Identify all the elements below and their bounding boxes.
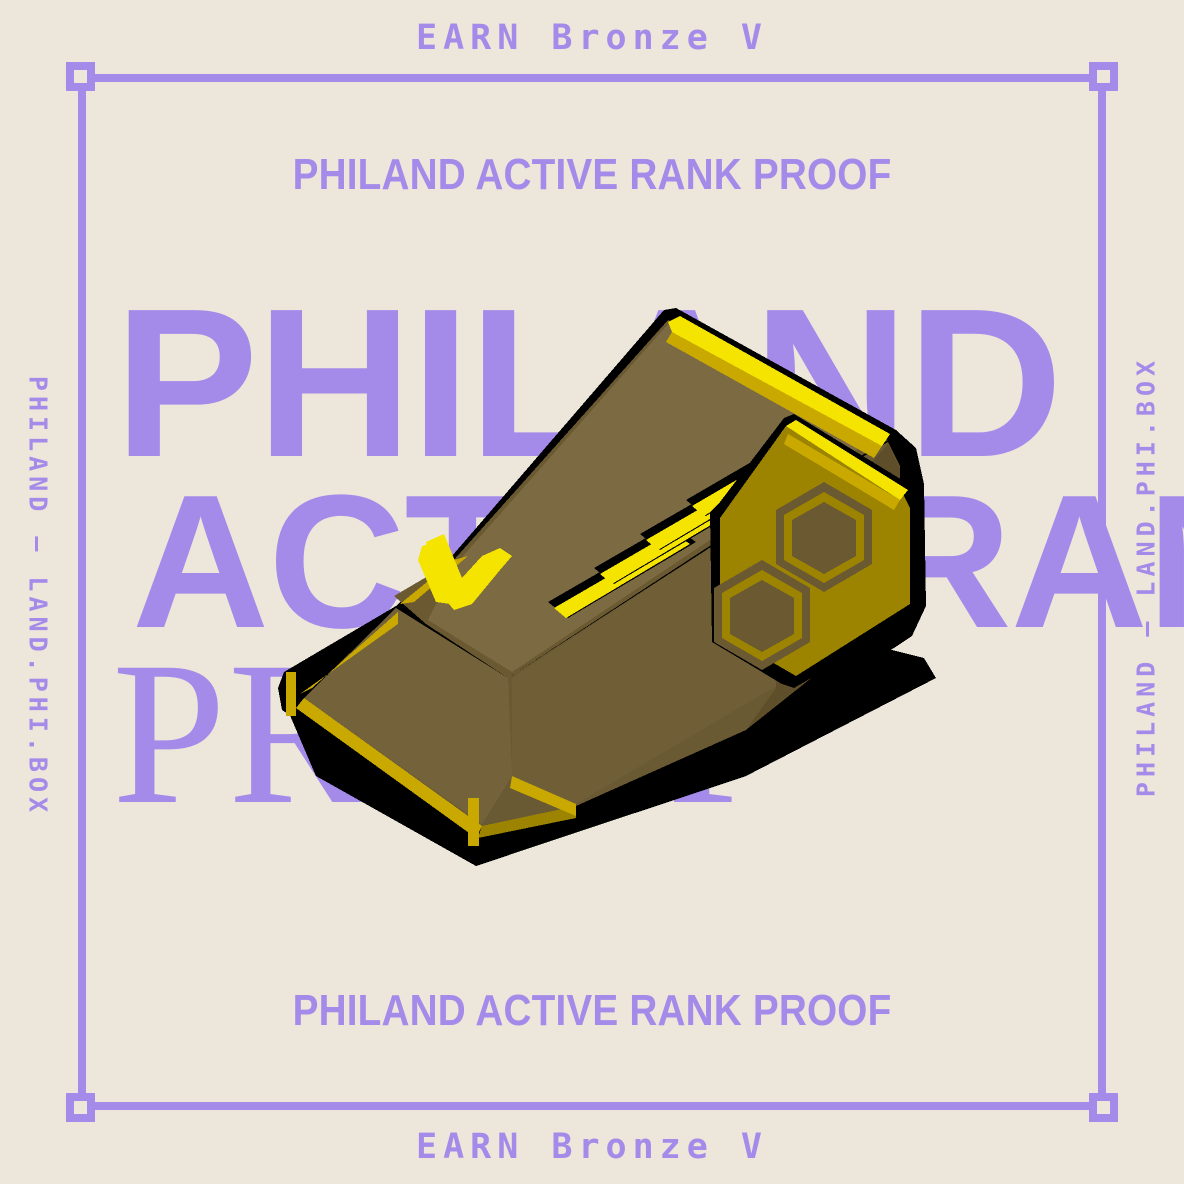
top-strap-label: EARN Bronze V: [0, 18, 1184, 58]
headline-bottom: PHILAND ACTIVE RANK PROOF: [71, 986, 1113, 1036]
left-side-label: PHILAND — LAND.PHI.BOX: [24, 347, 53, 847]
bottom-strap-label: EARN Bronze V: [0, 1127, 1184, 1167]
corner-marker-bottom-right: [1089, 1093, 1118, 1122]
badge-front-post: [468, 798, 479, 846]
corner-marker-top-left: [66, 62, 95, 91]
right-side-label: PHILAND — LAND.PHI.BOX: [1132, 327, 1161, 827]
frame-line-bottom: [86, 1102, 1098, 1110]
badge-svg: [276, 306, 936, 876]
corner-marker-top-right: [1089, 62, 1118, 91]
corner-marker-bottom-left: [66, 1093, 95, 1122]
frame-line-right: [1098, 82, 1106, 1102]
headline-top: PHILAND ACTIVE RANK PROOF: [71, 150, 1113, 200]
badge-left-post: [286, 672, 296, 716]
frame-line-left: [78, 82, 86, 1102]
badge-wedge: [278, 308, 926, 846]
rank-proof-card: EARN Bronze V PHILAND — LAND.PHI.BOX PHI…: [0, 0, 1184, 1184]
frame-line-top: [86, 74, 1098, 82]
bronze-rank-badge-artwork: [276, 306, 936, 876]
